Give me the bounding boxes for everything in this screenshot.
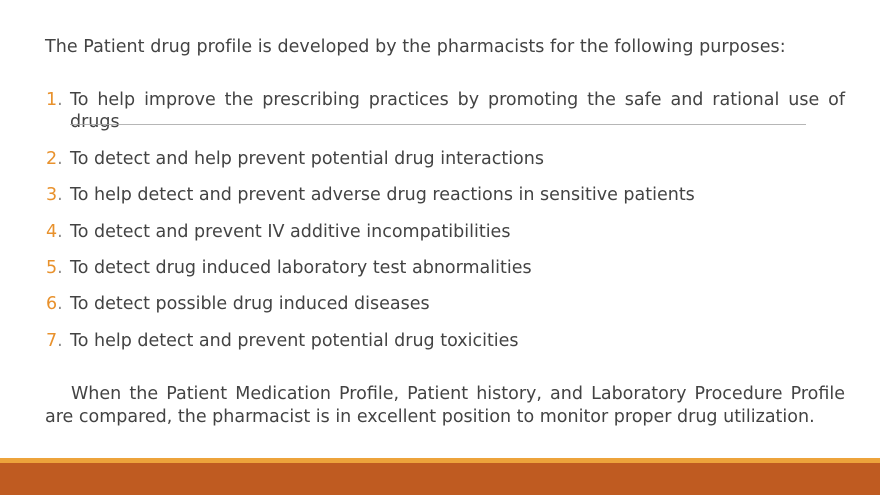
closing-paragraph: When the Patient Medication Profile, Pat… [45, 383, 845, 429]
horizontal-rule [70, 124, 806, 125]
list-item: 4. To detect and prevent IV additive inc… [45, 221, 845, 243]
list-item-number: 3. [46, 184, 68, 206]
list-item-number-value: 5 [46, 258, 57, 278]
list-item-text: To help detect and prevent potential dru… [70, 330, 845, 352]
list-item-number-value: 4 [46, 222, 57, 242]
list-item-text: To detect and help prevent potential dru… [70, 148, 845, 170]
closing-paragraph-block: When the Patient Medication Profile, Pat… [45, 383, 845, 429]
list-item: 2. To detect and help prevent potential … [45, 148, 845, 170]
list-item-number-dot: . [57, 294, 63, 314]
list-item-number-dot: . [57, 331, 63, 351]
list-item-number-value: 7 [46, 331, 57, 351]
list-item-number-dot: . [57, 90, 63, 110]
list-item-number-value: 1 [46, 90, 57, 110]
intro-paragraph-block: The Patient drug profile is developed by… [45, 36, 845, 59]
slide-canvas: The Patient drug profile is developed by… [0, 0, 880, 495]
footer-decoration [0, 458, 880, 495]
list-item-number-dot: . [57, 258, 63, 278]
list-item-number-value: 6 [46, 294, 57, 314]
list-item-number-dot: . [57, 149, 63, 169]
list-item-text: To detect drug induced laboratory test a… [70, 257, 845, 279]
footer-main-bar [0, 463, 880, 495]
list-item-text: To detect and prevent IV additive incomp… [70, 221, 845, 243]
list-item-number-dot: . [57, 222, 63, 242]
list-item: 7. To help detect and prevent potential … [45, 330, 845, 352]
intro-paragraph: The Patient drug profile is developed by… [45, 36, 845, 59]
list-item-number-dot: . [57, 185, 63, 205]
list-item-number: 6. [46, 293, 68, 315]
list-item: 6. To detect possible drug induced disea… [45, 293, 845, 315]
list-item-text: To help detect and prevent adverse drug … [70, 184, 845, 206]
list-item: 3. To help detect and prevent adverse dr… [45, 184, 845, 206]
list-item-number: 7. [46, 330, 68, 352]
list-item-number-value: 2 [46, 149, 57, 169]
list-item-number: 1. [46, 89, 68, 111]
list-item: 1. To help improve the prescribing pract… [45, 89, 845, 134]
list-item-number: 4. [46, 221, 68, 243]
list-item-text: To detect possible drug induced diseases [70, 293, 845, 315]
list-item: 5. To detect drug induced laboratory tes… [45, 257, 845, 279]
purpose-list: 1. To help improve the prescribing pract… [45, 89, 845, 366]
list-item-number-value: 3 [46, 185, 57, 205]
list-item-number: 5. [46, 257, 68, 279]
list-item-number: 2. [46, 148, 68, 170]
list-item-text: To help improve the prescribing practice… [70, 89, 845, 134]
